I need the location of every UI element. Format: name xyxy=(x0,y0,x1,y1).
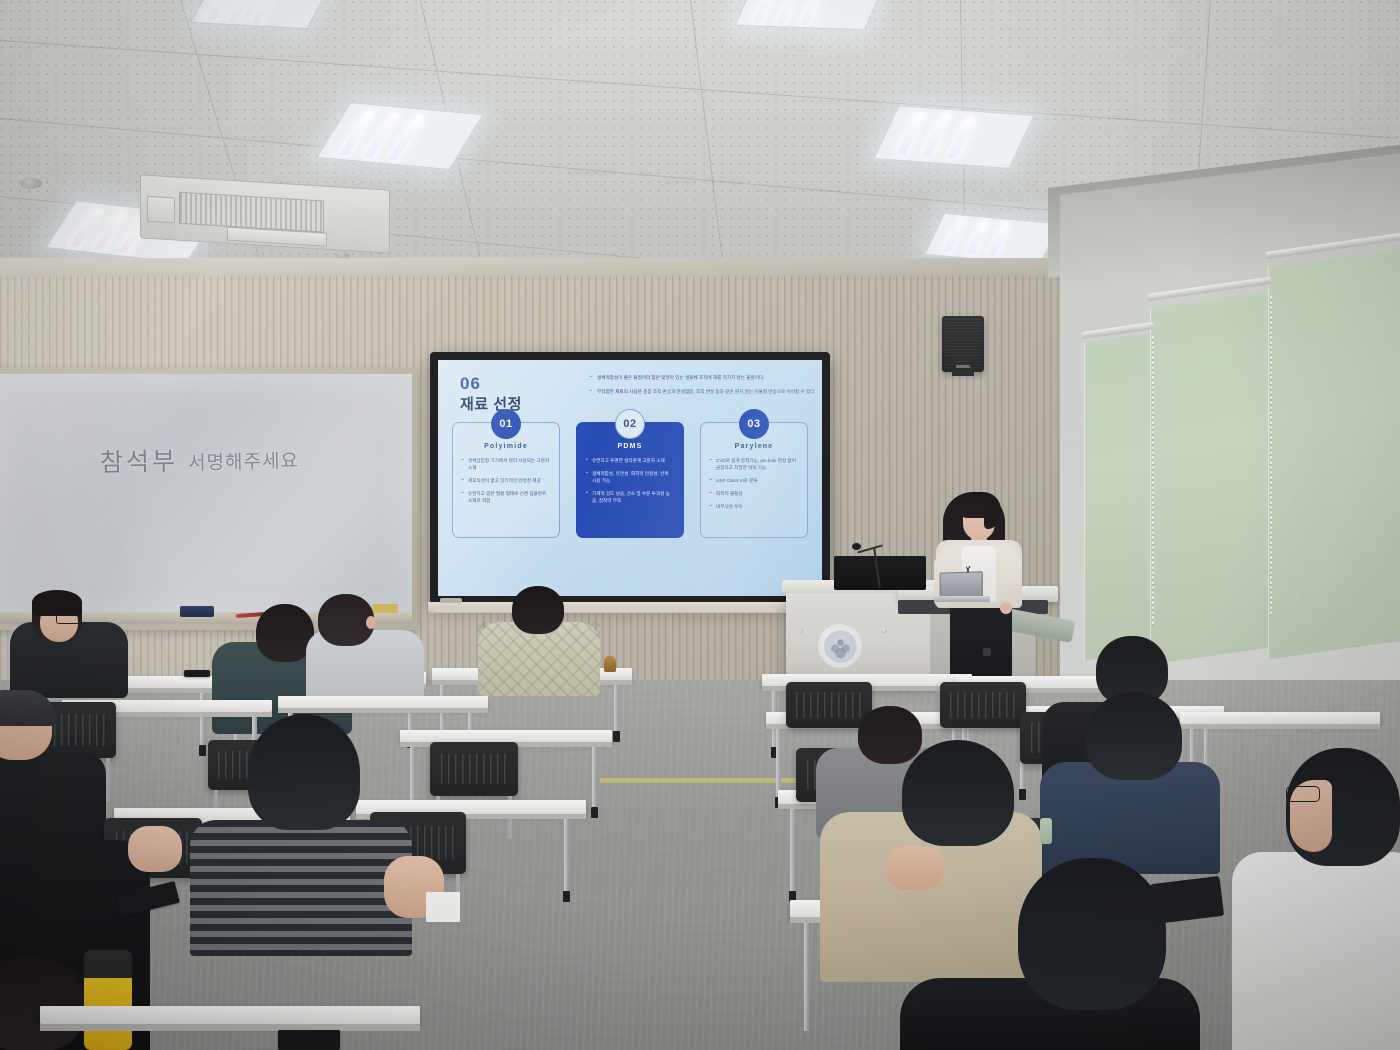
card-bullet: 기계적 강도 낮음, 산소 및 수분 투과성 높음, 접착력 부족 xyxy=(586,491,674,505)
wall-speaker-icon xyxy=(942,316,984,372)
desk xyxy=(278,696,488,714)
card-bullet: CVD로 쉽게 증착가능, pin hole 현상 없어 균일하고 치밀한 박막… xyxy=(710,458,798,472)
card-title-parylene: Parylene xyxy=(710,443,798,450)
material-card-polyimide: 01 Polyimide 생체삽입형 기기에서 널리 사용되는 고분자 소재 세… xyxy=(452,422,560,538)
presenter-arm-right xyxy=(1006,556,1022,608)
slide-bullet-2: 부적합한 재료의 사용은 종종 조직 손상과 만성염증, 조직 변성 등과 같은… xyxy=(590,389,822,396)
person-hand xyxy=(886,846,944,890)
card-bullet: 생체적합성, 유연성, 화학적 안정성, 반복 사용 가능 xyxy=(586,471,674,485)
tumbler-lid xyxy=(86,950,130,960)
desk xyxy=(40,1006,420,1032)
card-bullet: 화학적 불활성 xyxy=(710,491,798,498)
microphone-icon xyxy=(852,543,861,550)
university-crest-icon xyxy=(818,624,862,668)
slide-content: 06 재료 선정 생체적합성이 좋은 물질이라 함은 맞닿아 있는 생물체 조직… xyxy=(438,360,822,596)
card-title-pdms: PDMS xyxy=(586,443,674,450)
phone-on-desk[interactable] xyxy=(184,670,210,677)
card-bullet: 유연하고 얇은 필름 형태로 신경 임플란트 소재로 적합 xyxy=(462,491,550,505)
card-badge-02: 02 xyxy=(615,409,645,439)
card-bullet: 유연하고 투명한 실리콘계 고분자 소재 xyxy=(586,458,674,465)
window-blind-2[interactable] xyxy=(1150,292,1270,665)
slide-material-cards: 01 Polyimide 생체삽입형 기기에서 널리 사용되는 고분자 소재 세… xyxy=(452,422,808,538)
card-badge-03: 03 xyxy=(739,409,769,439)
presenter-laptop-screen[interactable] xyxy=(940,571,983,599)
window-blind-1[interactable] xyxy=(1084,333,1152,661)
blind-pull-chain-1[interactable] xyxy=(1152,336,1154,626)
card-bullet: USP Class VI로 분류 xyxy=(710,478,798,485)
glasses-icon xyxy=(1286,786,1320,802)
presentation-display: 06 재료 선정 생체적합성이 좋은 물질이라 함은 맞닿아 있는 생물체 조직… xyxy=(430,352,830,604)
ceiling-light-4 xyxy=(735,0,882,30)
slide-intro-bullets: 생체적합성이 좋은 물질이라 함은 맞닿아 있는 생물체 조직에 해를 끼치지 … xyxy=(590,375,822,402)
material-card-parylene: 03 Parylene CVD로 쉽게 증착가능, pin hole 현상 없어… xyxy=(700,422,808,538)
chair[interactable] xyxy=(430,742,518,796)
bell-icon xyxy=(604,656,616,672)
presenter-hair-bang xyxy=(984,497,999,529)
blind-pull-chain-2[interactable] xyxy=(1270,296,1272,616)
desk xyxy=(1180,712,1380,730)
card-badge-01: 01 xyxy=(491,409,521,439)
chair[interactable] xyxy=(786,682,872,728)
card-bullet: 생체삽입형 기기에서 널리 사용되는 고분자 소재 xyxy=(462,458,550,472)
presenter-trouser-logo xyxy=(983,648,991,656)
chair[interactable] xyxy=(940,682,1026,728)
whiteboard-text: 참석부 서명해주세요 xyxy=(100,437,401,479)
presenter-laptop-base[interactable] xyxy=(934,596,990,602)
smoke-detector-icon xyxy=(20,178,42,189)
person-ear xyxy=(366,616,376,629)
lecture-room-photo: 참석부 서명해주세요 06 재료 선정 생체적합성이 좋은 물질이라 함은 맞닿… xyxy=(0,0,1400,1050)
slide-bullet-1: 생체적합성이 좋은 물질이라 함은 맞닿아 있는 생물체 조직에 해를 끼치지 … xyxy=(590,375,822,382)
whiteboard-corner-tag xyxy=(372,604,398,613)
speaker-bracket xyxy=(952,370,974,376)
whiteboard-glare xyxy=(0,374,412,622)
display-brand-logo xyxy=(440,598,462,603)
display-tray-inner xyxy=(436,606,776,612)
card-bullet: 세포독성이 없고 장기적인 안정성 제공 xyxy=(462,478,550,485)
card-bullet: 내부식성 우수 xyxy=(710,504,798,511)
card-title-polyimide: Polyimide xyxy=(462,443,550,450)
slide-number: 06 xyxy=(460,374,481,394)
floor-tape-marker xyxy=(600,778,797,783)
whiteboard-line2: 서명해주세요 xyxy=(188,451,299,474)
presenter-hand xyxy=(1000,602,1012,614)
window-blind-3[interactable] xyxy=(1268,249,1400,660)
water-bottle-icon[interactable] xyxy=(1040,818,1052,844)
yellow-tumbler[interactable] xyxy=(84,952,132,1050)
notebook-on-desk[interactable] xyxy=(426,892,460,922)
whiteboard-line1: 참석부 xyxy=(100,448,179,478)
tablet-on-desk[interactable] xyxy=(1150,876,1224,924)
phone-on-desk[interactable] xyxy=(278,1030,340,1050)
material-card-pdms: 02 PDMS 유연하고 투명한 실리콘계 고분자 소재 생체적합성, 유연성,… xyxy=(576,422,684,538)
ceiling-light-5 xyxy=(873,105,1034,169)
whiteboard-eraser-icon[interactable] xyxy=(180,606,214,617)
